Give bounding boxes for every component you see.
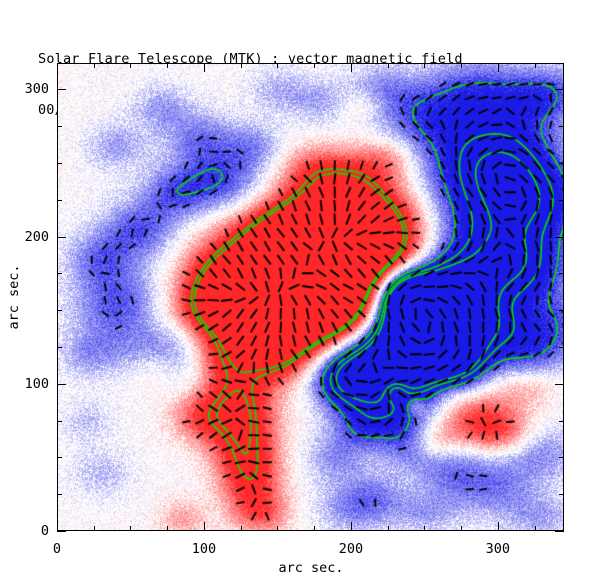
magnetogram-image (58, 64, 563, 530)
y-tick-label: 200 (9, 229, 49, 245)
x-tick (94, 526, 95, 531)
x-tick (277, 526, 278, 531)
x-tick-top (498, 63, 499, 72)
x-tick-top (388, 63, 389, 68)
x-tick-top (351, 63, 352, 72)
y-tick-right (559, 347, 564, 348)
y-tick-right (559, 421, 564, 422)
y-tick-label: 0 (9, 523, 49, 539)
y-tick-right (559, 310, 564, 311)
x-tick (535, 526, 536, 531)
y-tick-right (555, 531, 564, 532)
x-tick-top (535, 63, 536, 68)
y-tick (57, 384, 66, 385)
y-tick (57, 200, 62, 201)
x-tick-top (167, 63, 168, 68)
x-tick (130, 526, 131, 531)
y-tick (57, 310, 62, 311)
contours-and-vectors (58, 64, 564, 531)
y-tick (57, 273, 62, 274)
y-tick-right (559, 273, 564, 274)
y-tick (57, 163, 62, 164)
x-tick-label: 300 (486, 541, 510, 557)
y-tick-right (559, 126, 564, 127)
y-tick-right (559, 457, 564, 458)
x-tick (204, 522, 205, 531)
x-axis-title: arc sec. (278, 560, 343, 576)
x-tick (424, 526, 425, 531)
y-tick-right (559, 200, 564, 201)
y-tick-right (555, 384, 564, 385)
y-tick (57, 494, 62, 495)
x-tick-top (461, 63, 462, 68)
x-tick-label: 200 (339, 541, 363, 557)
magnetogram-figure: Solar Flare Telescope (MTK) : vector mag… (0, 0, 612, 585)
x-tick (57, 522, 58, 531)
y-axis-title: arc sec. (6, 264, 22, 329)
x-tick-top (277, 63, 278, 68)
plot-area (57, 63, 564, 531)
x-tick (351, 522, 352, 531)
y-tick (57, 347, 62, 348)
x-tick (461, 526, 462, 531)
y-tick-right (555, 237, 564, 238)
y-tick (57, 126, 62, 127)
y-tick (57, 457, 62, 458)
x-tick-label: 100 (192, 541, 216, 557)
x-tick-top (241, 63, 242, 68)
x-tick-top (204, 63, 205, 72)
y-tick (57, 421, 62, 422)
y-tick (57, 531, 66, 532)
x-tick (388, 526, 389, 531)
x-tick (241, 526, 242, 531)
x-tick-top (424, 63, 425, 68)
y-tick-label: 300 (9, 81, 49, 97)
x-tick-top (57, 63, 58, 72)
y-tick-right (559, 494, 564, 495)
x-tick (498, 522, 499, 531)
x-tick (314, 526, 315, 531)
y-tick-right (559, 163, 564, 164)
x-tick-label: 0 (53, 541, 61, 557)
y-tick-label: 100 (9, 376, 49, 392)
y-tick-right (555, 89, 564, 90)
x-tick-top (130, 63, 131, 68)
y-tick (57, 89, 66, 90)
x-tick-top (94, 63, 95, 68)
y-tick (57, 237, 66, 238)
x-tick-top (314, 63, 315, 68)
x-tick (167, 526, 168, 531)
